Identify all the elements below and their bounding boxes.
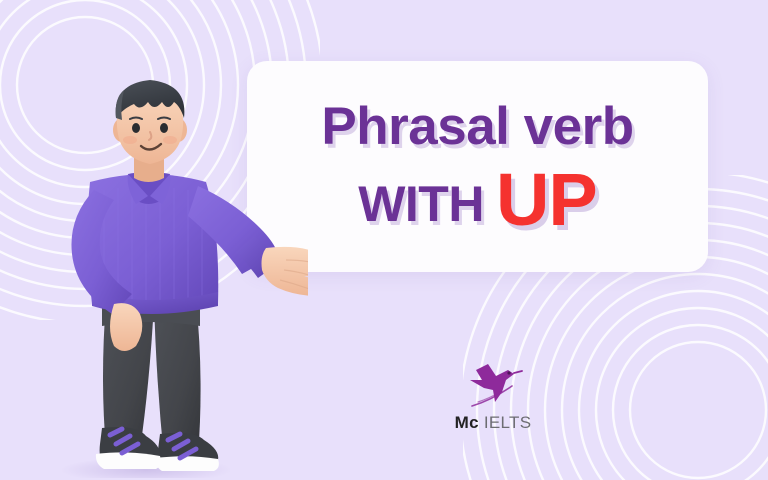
shoe-back [156,433,219,471]
hummingbird-icon [462,358,524,410]
headline-with-word: WITH [358,179,484,229]
brand-logo: Mc IELTS [438,358,548,433]
shoe-front [96,427,161,469]
brand-name: Mc IELTS [455,413,532,433]
character-illustration [28,78,308,478]
headline-group: Phrasal verb WITH UP [247,61,708,272]
brand-name-ielts: IELTS [484,413,531,432]
headline-up-word: UP [496,163,597,237]
brand-name-mc: Mc [455,413,479,432]
headline-line-1: Phrasal verb [321,100,633,153]
headline-line-2: WITH UP [358,159,597,233]
poster-canvas: Phrasal verb WITH UP [0,0,768,480]
pointing-hand [262,247,309,296]
